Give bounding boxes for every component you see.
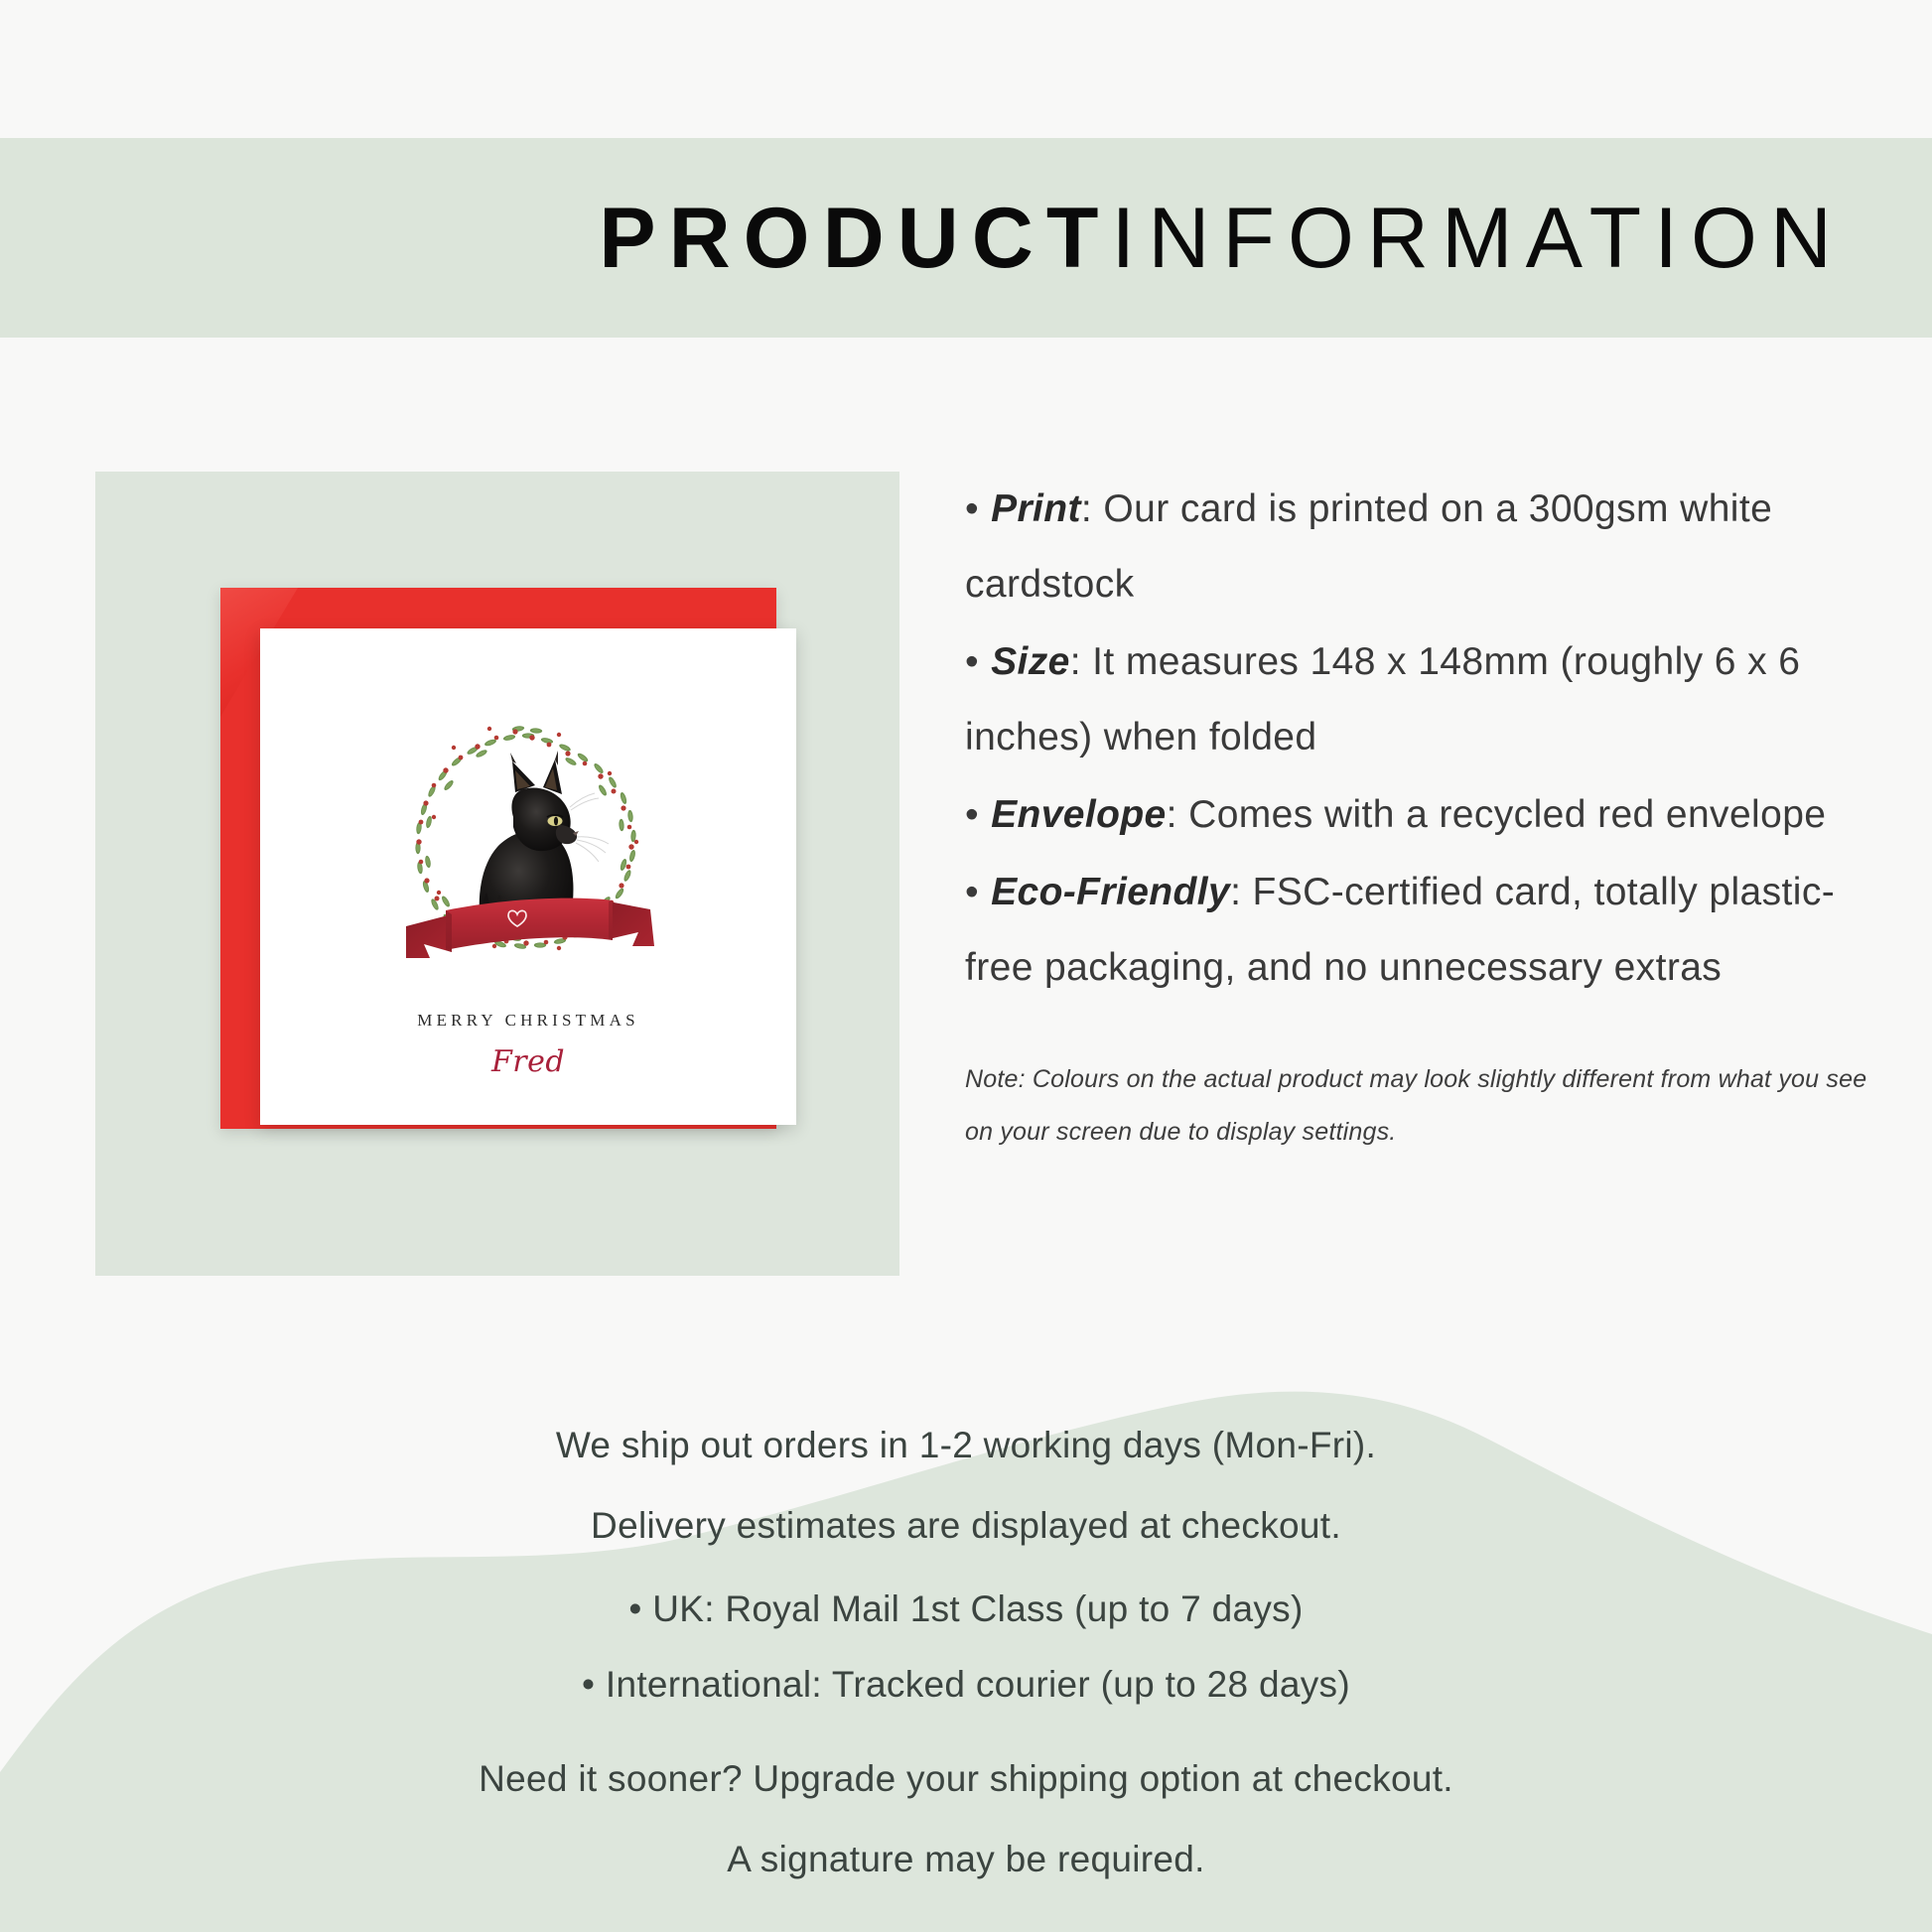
greeting-card: MERRY CHRISTMAS Fred <box>260 628 796 1125</box>
card-pet-name: Fred <box>260 1044 796 1079</box>
bullet-label: Size <box>991 640 1070 683</box>
title-light-part: INFORMATION <box>1111 191 1845 286</box>
shipping-uk: • UK: Royal Mail 1st Class (up to 7 days… <box>0 1588 1932 1630</box>
bullet-label: Print <box>991 487 1081 530</box>
bullet-label: Eco-Friendly <box>991 871 1230 913</box>
product-information-page: PRODUCTINFORMATION <box>0 0 1932 1932</box>
header-band: PRODUCTINFORMATION <box>0 138 1932 338</box>
red-banner-ribbon <box>406 898 654 958</box>
title-bold-part: PRODUCT <box>599 191 1111 286</box>
bullet-dot-icon: • <box>965 793 979 836</box>
product-details-list: •Print: Our card is printed on a 300gsm … <box>965 472 1878 1159</box>
bullet-size: •Size: It measures 148 x 148mm (roughly … <box>965 624 1878 775</box>
bullet-text: : It measures 148 x 148mm (roughly 6 x 6… <box>965 640 1800 759</box>
card-artwork <box>364 698 692 996</box>
bullet-dot-icon: • <box>965 871 979 913</box>
shipping-upgrade: Need it sooner? Upgrade your shipping op… <box>0 1758 1932 1800</box>
shipping-line-1: We ship out orders in 1-2 working days (… <box>0 1425 1932 1466</box>
page-title: PRODUCTINFORMATION <box>599 196 1932 281</box>
shipping-international: • International: Tracked courier (up to … <box>0 1664 1932 1706</box>
bullet-dot-icon: • <box>965 487 979 530</box>
bullet-print: •Print: Our card is printed on a 300gsm … <box>965 472 1878 622</box>
bullet-eco-friendly: •Eco-Friendly: FSC-certified card, total… <box>965 855 1878 1006</box>
bullet-text: : Comes with a recycled red envelope <box>1167 793 1827 836</box>
bullet-label: Envelope <box>991 793 1167 836</box>
colour-disclaimer-note: Note: Colours on the actual product may … <box>965 1053 1878 1159</box>
bullet-dot-icon: • <box>965 640 979 683</box>
bullet-text: : Our card is printed on a 300gsm white … <box>965 487 1772 606</box>
bullet-envelope: •Envelope: Comes with a recycled red env… <box>965 777 1878 853</box>
card-caption: MERRY CHRISTMAS Fred <box>260 1011 796 1079</box>
shipping-line-2: Delivery estimates are displayed at chec… <box>0 1505 1932 1547</box>
product-photo-panel: MERRY CHRISTMAS Fred <box>95 472 899 1276</box>
card-greeting: MERRY CHRISTMAS <box>260 1011 796 1031</box>
shipping-signature: A signature may be required. <box>0 1839 1932 1880</box>
